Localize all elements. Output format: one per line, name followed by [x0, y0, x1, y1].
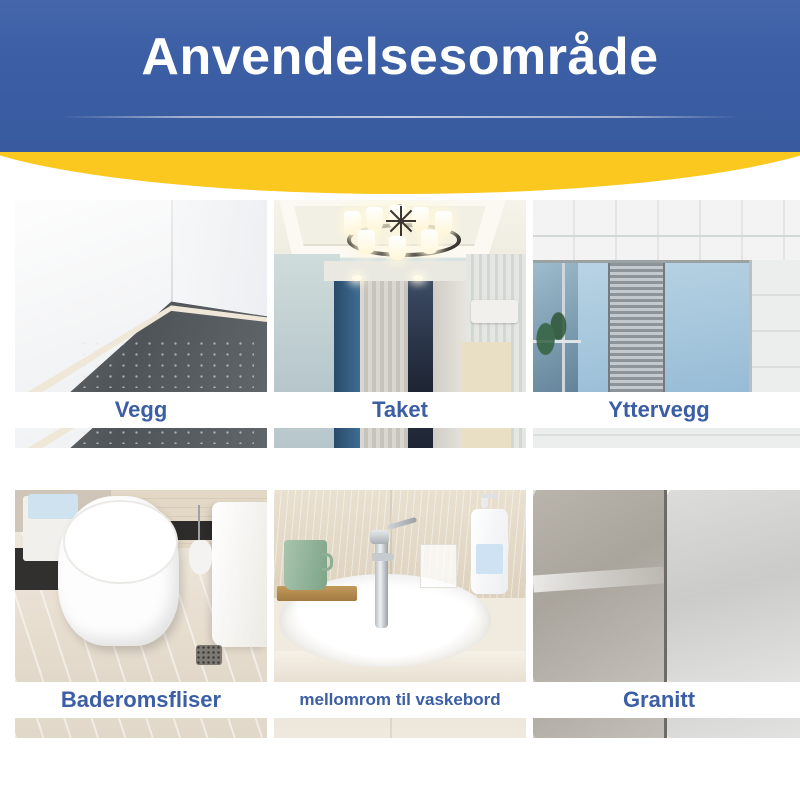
photo-granite-slabs — [533, 490, 800, 682]
photo-ceiling-chandelier — [274, 200, 526, 392]
photo-strip-building-facade — [533, 428, 800, 448]
photo-white-wall-corner — [15, 200, 267, 392]
floor-drain-icon — [196, 645, 222, 665]
photo-strip-bathroom-sink — [274, 718, 526, 738]
photo-bathroom-toilet — [15, 490, 267, 682]
photo-strip-granite-slabs — [533, 718, 800, 738]
yellow-accent-arc — [0, 152, 800, 194]
page-title: Anvendelsesområde — [0, 28, 800, 88]
page-header: Anvendelsesområde — [0, 0, 800, 152]
header-divider — [60, 116, 740, 118]
photo-strip-white-wall-corner — [15, 428, 267, 448]
grid-row: Vegg — [0, 200, 800, 448]
grid-cell-baderomsfliser[interactable]: Baderomsfliser — [15, 490, 267, 738]
grid-cell-granitt[interactable]: Granitt — [533, 490, 785, 738]
photo-building-facade — [533, 200, 800, 392]
grid-cell-taket[interactable]: Taket — [274, 200, 526, 448]
photo-bathroom-sink — [274, 490, 526, 682]
yellow-accent-band — [0, 152, 800, 198]
grid-cell-mellomrom-til-vaskebord[interactable]: mellomrom til vaskebord — [274, 490, 526, 738]
caption-vegg: Vegg — [15, 392, 267, 428]
grid-cell-vegg[interactable]: Vegg — [15, 200, 267, 448]
caption-yttervegg: Yttervegg — [533, 392, 785, 428]
photo-strip-ceiling-chandelier — [274, 428, 526, 448]
caption-granitt: Granitt — [533, 682, 785, 718]
caption-mellomrom-til-vaskebord: mellomrom til vaskebord — [274, 682, 526, 718]
chandelier-icon — [340, 204, 461, 262]
grid-row: Baderomsfliser mellomrom t — [0, 490, 800, 738]
caption-baderomsfliser: Baderomsfliser — [15, 682, 267, 718]
caption-taket: Taket — [274, 392, 526, 428]
application-areas-grid: Vegg — [0, 200, 800, 738]
grid-cell-yttervegg[interactable]: Yttervegg — [533, 200, 785, 448]
photo-strip-bathroom-toilet — [15, 718, 267, 738]
